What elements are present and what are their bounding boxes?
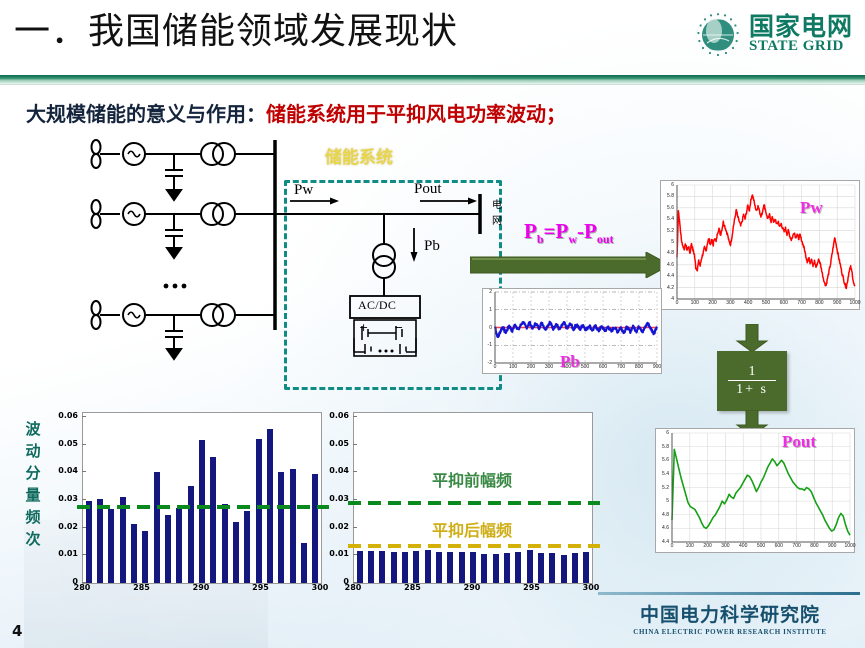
chart-frequency-before [82, 412, 322, 584]
tick-mark [82, 499, 86, 500]
pw-ytick: 4.8 [661, 250, 674, 256]
freq-after-xtick: 300 [580, 583, 602, 592]
pb-xtick: 200 [524, 364, 538, 370]
tick-mark [353, 416, 357, 417]
freq-before-xtick: 285 [131, 583, 153, 592]
footer-divider [598, 592, 860, 595]
bar [481, 554, 487, 583]
freq-after-xtick: 280 [342, 583, 364, 592]
pw-ytick: 5.4 [661, 216, 674, 222]
pw-ytick: 5.6 [661, 205, 674, 211]
bar [222, 504, 228, 583]
bar [436, 552, 442, 583]
tf-numerator: 1 [739, 364, 766, 380]
pw-xtick: 500 [759, 300, 773, 306]
tick-mark [82, 416, 86, 417]
bar [459, 552, 465, 583]
bar [583, 552, 589, 583]
slide-canvas: 一．我国储能领域发展现状 国家电网 [0, 0, 865, 648]
formula-sub-out: out [597, 232, 614, 246]
bar [86, 501, 92, 583]
bar [493, 554, 499, 583]
pw-xtick: 600 [777, 300, 791, 306]
pw-ytick: 5.8 [661, 193, 674, 199]
pw-ytick: 4.2 [661, 285, 674, 291]
bar [142, 531, 148, 583]
vertical-axis-label-char: 量 [20, 484, 46, 506]
freq-after-xtick: 290 [461, 583, 483, 592]
bar [165, 515, 171, 583]
label-pb: Pb [424, 238, 440, 255]
grid-label: 电网 [492, 198, 508, 230]
bar [97, 499, 103, 583]
pout-xtick: 500 [754, 543, 768, 549]
bar [561, 555, 567, 583]
pout-xtick: 100 [683, 543, 697, 549]
tick-mark [82, 471, 86, 472]
bar [402, 552, 408, 583]
annot-after-suppression: 平抑后幅频 [432, 517, 512, 541]
pb-ytick: -1 [483, 342, 492, 348]
pout-xtick: 900 [825, 543, 839, 549]
vertical-axis-label-char: 波 [20, 418, 46, 440]
freq-before-ytick: 0.01 [52, 549, 78, 558]
state-grid-globe-icon [695, 11, 741, 57]
freq-after-xtick: 295 [521, 583, 543, 592]
freq-before-xtick: 295 [250, 583, 272, 592]
vertical-axis-label-char: 次 [20, 528, 46, 550]
subtitle: 大规模储能的意义与作用：储能系统用于平抑风电功率波动； [26, 98, 566, 127]
pb-ytick: 2 [483, 289, 492, 295]
bar [368, 551, 374, 583]
freq-after-xtick: 285 [402, 583, 424, 592]
freq-after-ytick: 0.01 [323, 549, 349, 558]
pw-xtick: 100 [688, 300, 702, 306]
chart-pout-label: Pout [782, 432, 816, 452]
freq-before-ytick: 0.05 [52, 439, 78, 448]
pw-xtick: 900 [830, 300, 844, 306]
page-title: 一．我国储能领域发展现状 [14, 6, 458, 58]
header-divider [0, 75, 865, 85]
power-balance-formula: Pb=Pw-Pout [524, 219, 613, 247]
formula-sub-b: b [537, 232, 544, 246]
pb-xtick: 100 [506, 364, 520, 370]
pw-xtick: 300 [723, 300, 737, 306]
pout-xtick: 600 [772, 543, 786, 549]
reference-line [77, 505, 329, 509]
bar [379, 551, 385, 583]
bar [413, 551, 419, 583]
freq-before-xtick: 280 [71, 583, 93, 592]
flow-arrow-right-icon [470, 252, 670, 278]
tick-mark [353, 554, 357, 555]
bar [504, 553, 510, 583]
reference-line [348, 544, 600, 548]
formula-p2: P [555, 219, 568, 243]
bar [527, 550, 533, 583]
bar [278, 472, 284, 583]
pw-ytick: 5.2 [661, 228, 674, 234]
bar [256, 439, 262, 583]
pw-xtick: 800 [812, 300, 826, 306]
pw-xtick: 1000 [848, 300, 862, 306]
freq-after-ytick: 0.05 [323, 439, 349, 448]
tick-mark [82, 554, 86, 555]
pw-xtick: 400 [741, 300, 755, 306]
vertical-axis-label-char: 分 [20, 462, 46, 484]
label-pw: Pw [294, 182, 313, 199]
bar [176, 508, 182, 583]
tick-mark [353, 499, 357, 500]
reference-line [348, 501, 600, 505]
bar [538, 553, 544, 583]
pout-ytick: 5 [656, 498, 669, 504]
chart-pb-label: Pb [560, 352, 580, 372]
transfer-function-block: 1 1+ s [717, 351, 787, 411]
bar [188, 486, 194, 583]
pb-xtick: 0 [488, 364, 502, 370]
single-line-diagram: + − 储能系统 Pw Pout Pb AC/DC [62, 138, 482, 393]
freq-after-ytick: 0.06 [323, 411, 349, 420]
pout-ytick: 4.6 [656, 525, 669, 531]
bar [131, 524, 137, 583]
bar [244, 511, 250, 583]
pout-xtick: 200 [701, 543, 715, 549]
pout-xtick: 800 [807, 543, 821, 549]
freq-after-ytick: 0.02 [323, 522, 349, 531]
pw-xtick: 0 [670, 300, 684, 306]
subtitle-red: 储能系统用于平抑风电功率波动； [266, 102, 566, 126]
bar [154, 472, 160, 583]
bar [470, 552, 476, 583]
freq-after-ytick: 0.03 [323, 494, 349, 503]
bar [199, 440, 205, 583]
pout-ytick: 6 [656, 430, 669, 436]
label-acdc: AC/DC [358, 298, 396, 313]
pout-ytick: 4.8 [656, 512, 669, 518]
bar [425, 550, 431, 583]
pw-xtick: 200 [706, 300, 720, 306]
label-pout: Pout [414, 181, 442, 198]
pb-xtick: 500 [578, 364, 592, 370]
pout-xtick: 0 [665, 543, 679, 549]
formula-sub-w: w [568, 232, 577, 246]
freq-before-ytick: 0.04 [52, 466, 78, 475]
vertical-axis-label-char: 动 [20, 440, 46, 462]
chart-pout: 4.44.64.855.25.45.65.8601002003004005006… [655, 428, 855, 553]
pb-ytick: 0 [483, 325, 492, 331]
pw-plot-svg [661, 181, 859, 309]
bar [515, 552, 521, 583]
vertical-axis-label-char: 频 [20, 506, 46, 528]
pout-ytick: 5.2 [656, 485, 669, 491]
bar [549, 553, 555, 583]
bar [233, 522, 239, 583]
formula-p3: P [584, 219, 597, 243]
bar [357, 551, 363, 583]
bar [391, 552, 397, 583]
freq-before-ytick: 0.02 [52, 522, 78, 531]
vertical-axis-label: 波动分量频次 [20, 418, 46, 550]
subtitle-black: 大规模储能的意义与作用： [26, 102, 266, 126]
tick-mark [353, 444, 357, 445]
tick-mark [82, 444, 86, 445]
pw-ytick: 4.6 [661, 262, 674, 268]
chart-pw: 44.24.44.64.855.25.45.65.860100200300400… [660, 180, 860, 310]
bar [572, 553, 578, 583]
freq-before-ytick: 0.06 [52, 411, 78, 420]
bar [301, 543, 307, 583]
chart-frequency-after [353, 412, 593, 584]
energy-storage-system-label: 储能系统 [325, 143, 393, 168]
bar [447, 552, 453, 583]
formula-eq: = [544, 219, 556, 243]
footer-institute-en: CHINA ELECTRIC POWER RESEARCH INSTITUTE [614, 628, 846, 636]
tick-mark [353, 471, 357, 472]
bar [108, 509, 114, 583]
pb-xtick: 600 [596, 364, 610, 370]
chart-pw-label: Pw [800, 198, 823, 218]
pout-ytick: 5.8 [656, 444, 669, 450]
pw-ytick: 4.4 [661, 273, 674, 279]
energy-storage-system-boundary [284, 180, 502, 390]
logo-text-cn: 国家电网 [749, 14, 853, 39]
flow-arrow-down-icon-1 [735, 324, 769, 352]
pout-ytick: 5.4 [656, 471, 669, 477]
pb-xtick: 800 [632, 364, 646, 370]
tick-mark [82, 527, 86, 528]
tf-denominator: 1+ s [728, 380, 776, 398]
bar [290, 469, 296, 583]
bar [312, 474, 318, 583]
pb-xtick: 300 [542, 364, 556, 370]
pw-xtick: 700 [795, 300, 809, 306]
pout-ytick: 5.6 [656, 457, 669, 463]
pb-xtick: 900 [650, 364, 664, 370]
formula-minus: - [577, 219, 584, 243]
pout-plot-svg [656, 429, 854, 552]
pb-ytick: 1 [483, 307, 492, 313]
pout-xtick: 400 [736, 543, 750, 549]
tick-mark [353, 527, 357, 528]
freq-before-xtick: 290 [190, 583, 212, 592]
footer-institute-logo: 中国电力科学研究院 CHINA ELECTRIC POWER RESEARCH … [614, 600, 846, 636]
pw-ytick: 6 [661, 182, 674, 188]
freq-after-ytick: 0.04 [323, 466, 349, 475]
pout-xtick: 1000 [843, 543, 857, 549]
pout-xtick: 700 [790, 543, 804, 549]
pb-xtick: 700 [614, 364, 628, 370]
pout-xtick: 300 [718, 543, 732, 549]
bar [120, 497, 126, 583]
page-number: 4 [12, 622, 22, 640]
freq-before-ytick: 0.03 [52, 494, 78, 503]
logo-text-en: STATE GRID [749, 39, 853, 54]
state-grid-logo: 国家电网 STATE GRID [695, 6, 853, 62]
footer-institute-cn: 中国电力科学研究院 [614, 600, 846, 627]
annot-before-suppression: 平抑前幅频 [432, 467, 512, 491]
bar [210, 457, 216, 583]
pw-ytick: 5 [661, 239, 674, 245]
formula-p1: P [524, 219, 537, 243]
